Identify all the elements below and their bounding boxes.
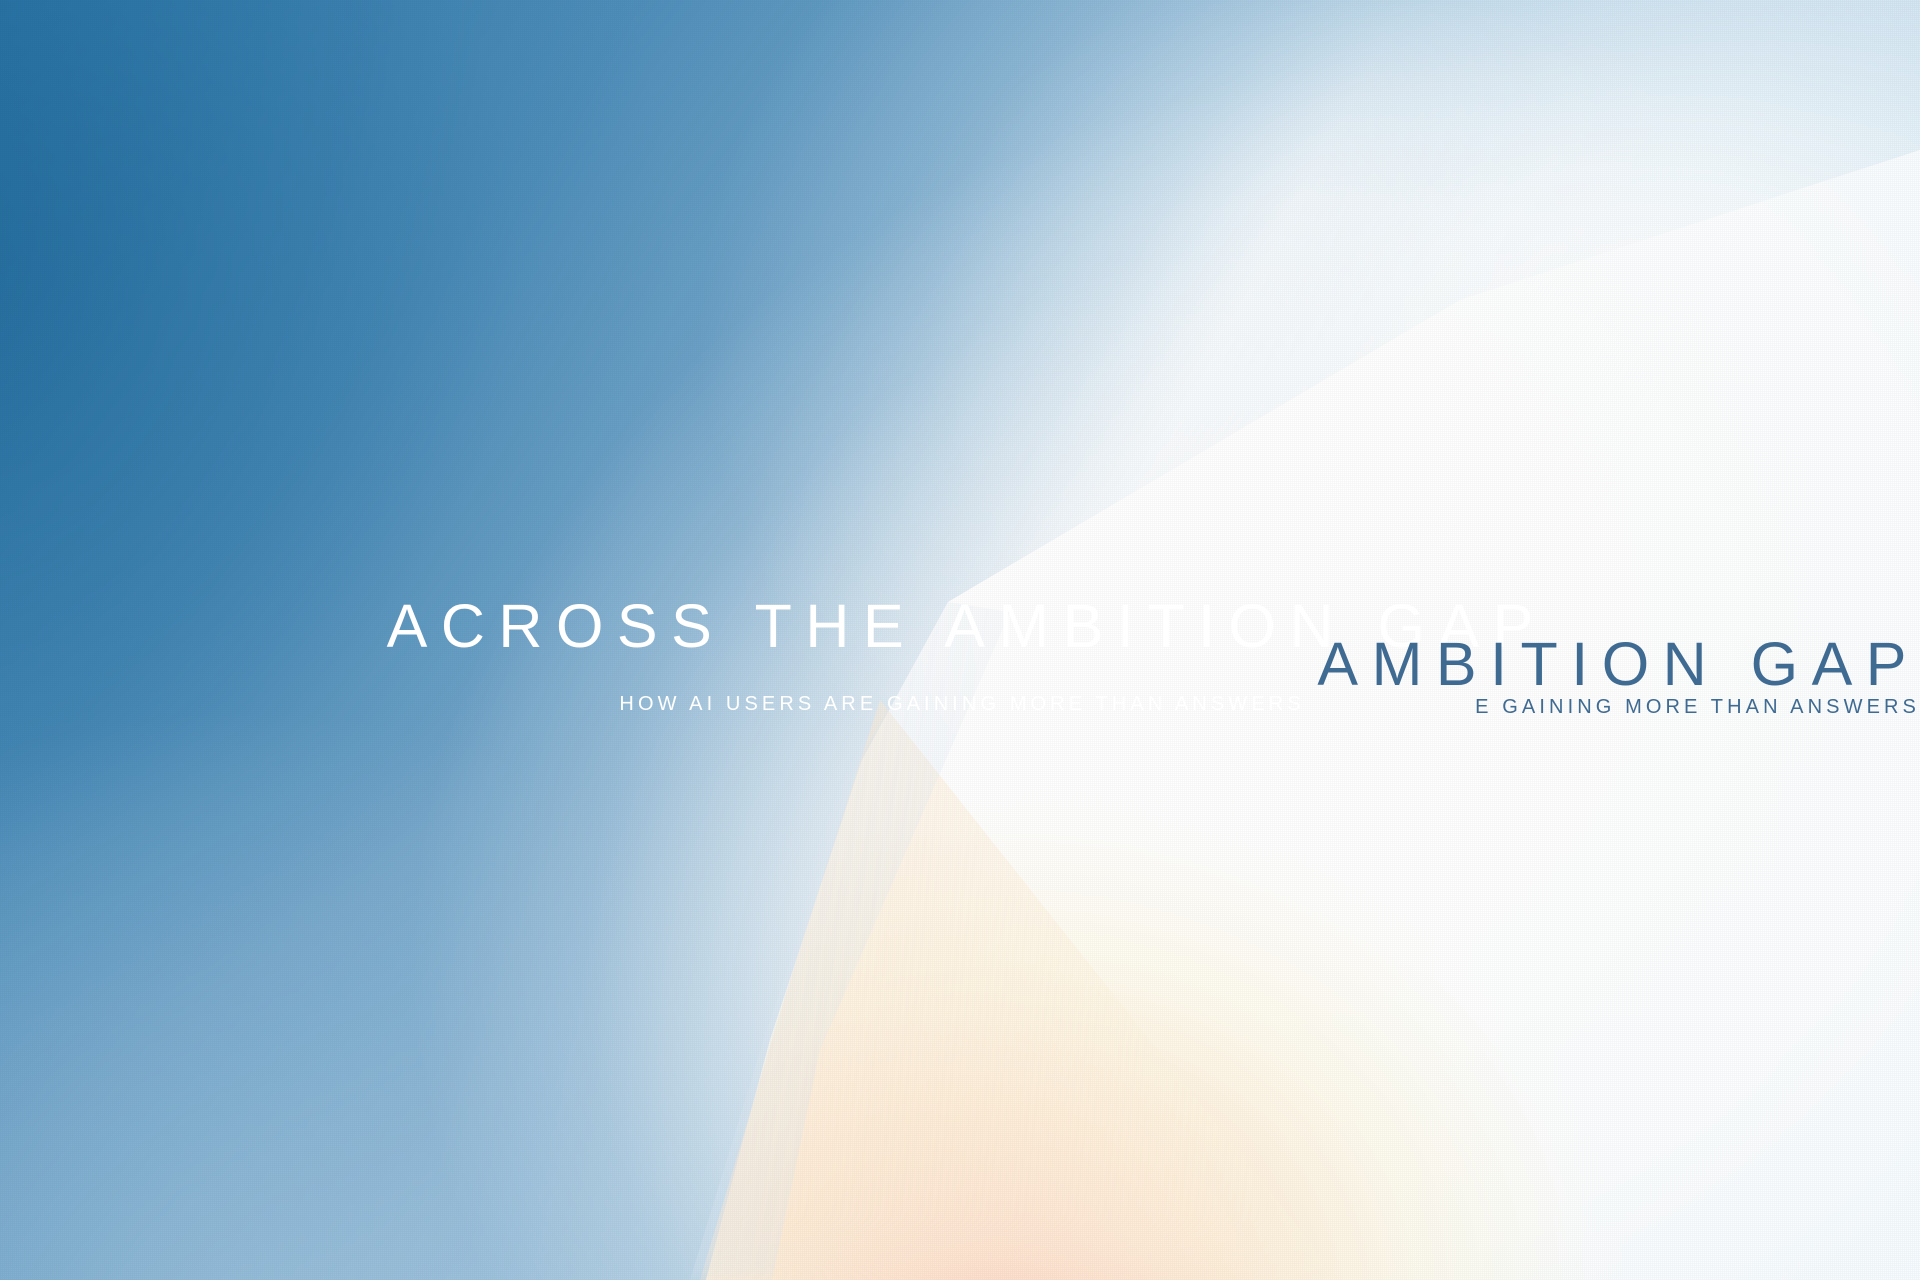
subheadline-row: HOW AI USERS ARE GAINING MORE THAN ANSWE…	[0, 694, 1920, 715]
headline-row: ACROSS THE AMBITION GAP ACROSS THE AMBIT…	[0, 596, 1920, 657]
subheadline-light-copy: HOW AI USERS ARE GAINING MORE THAN ANSWE…	[615, 694, 1304, 714]
title-slide: ACROSS THE AMBITION GAP ACROSS THE AMBIT…	[0, 0, 1920, 1280]
subheadline: HOW AI USERS ARE GAINING MORE THAN ANSWE…	[615, 697, 1304, 714]
headline: ACROSS THE AMBITION GAP ACROSS THE AMBIT…	[373, 634, 1547, 651]
title-text-block: ACROSS THE AMBITION GAP ACROSS THE AMBIT…	[0, 0, 1920, 1280]
